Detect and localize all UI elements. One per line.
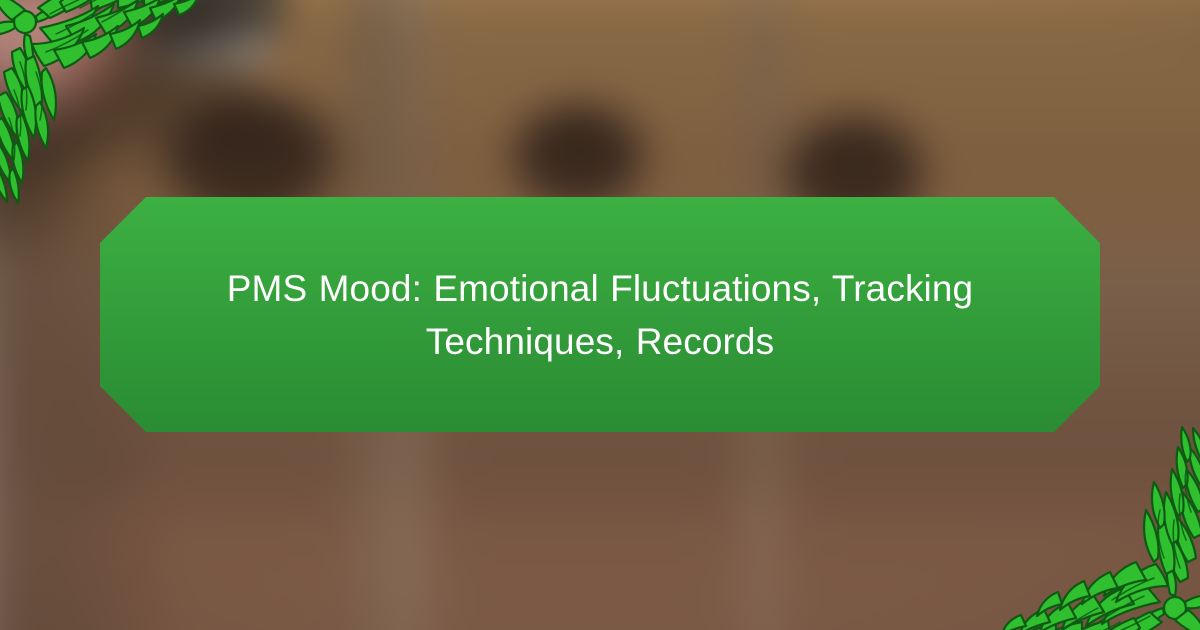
title-banner: PMS Mood: Emotional Fluctuations, Tracki…	[100, 197, 1100, 432]
banner-card: PMS Mood: Emotional Fluctuations, Tracki…	[0, 0, 1200, 630]
page-title: PMS Mood: Emotional Fluctuations, Tracki…	[180, 262, 1020, 368]
